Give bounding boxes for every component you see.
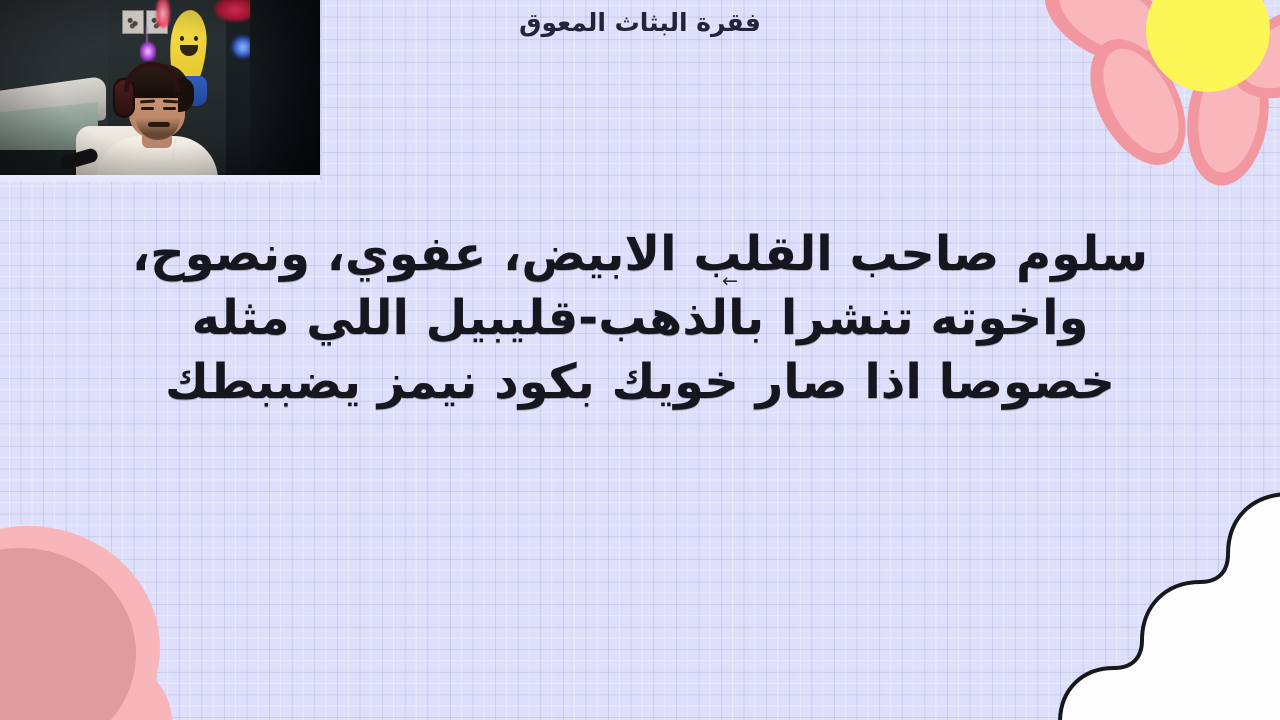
caption-line-3: خصوصا اذا صار خويك بكود نيمز يضببطك	[110, 350, 1170, 414]
webcam-scene	[0, 0, 320, 179]
webcam-overlay[interactable]	[0, 0, 322, 182]
caption-line-2: واخوته تنشرا بالذهب-قليبيل اللي مثله	[110, 286, 1170, 350]
left-arrow-icon: ←	[722, 272, 738, 291]
webcam-vignette	[0, 0, 320, 179]
stream-overlay-screen: فقرة البثاث المعوق سلوم صاحب القلب الابي…	[0, 0, 1280, 720]
caption-line-1: سلوم صاحب القلب الابيض، عفوي، ونصوح،	[110, 222, 1170, 286]
webcam-bottom-edge	[0, 175, 322, 179]
caption-text: سلوم صاحب القلب الابيض، عفوي، ونصوح، واخ…	[110, 222, 1170, 414]
